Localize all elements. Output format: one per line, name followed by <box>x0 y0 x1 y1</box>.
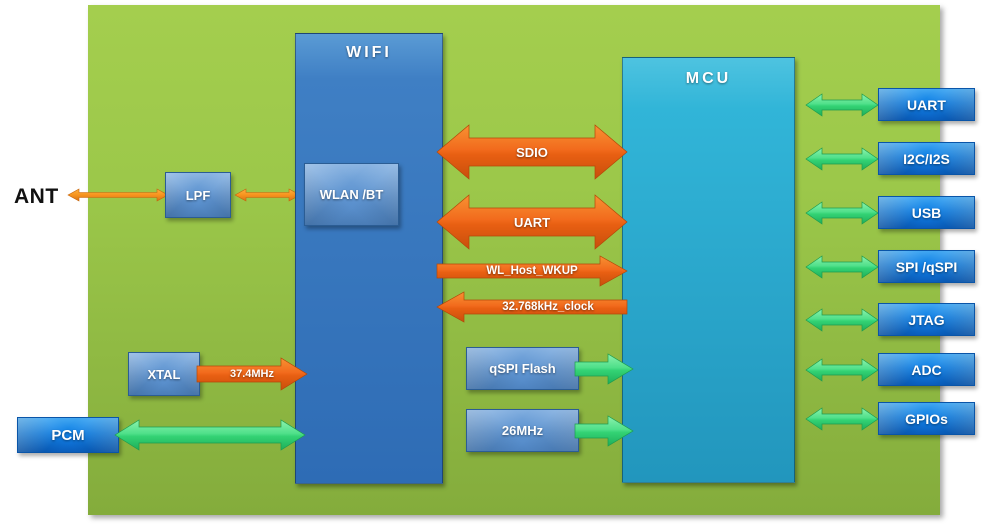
block-mcu: MCU <box>622 57 795 483</box>
diagram-canvas: ANT LPF WIFI WLAN /BT MCU <box>0 0 982 531</box>
block-peripheral-uart-label: UART <box>907 97 946 113</box>
xtal-37-4mhz-arrow: 37.4MHz <box>197 357 307 391</box>
block-lpf: LPF <box>165 172 231 218</box>
block-xtal-label: XTAL <box>148 367 181 382</box>
block-qspi-flash: qSPI Flash <box>466 347 579 390</box>
block-peripheral-gpios: GPIOs <box>878 402 975 435</box>
block-peripheral-spi-qspi: SPI /qSPI <box>878 250 975 283</box>
block-peripheral-jtag-label: JTAG <box>908 312 944 328</box>
block-peripheral-uart: UART <box>878 88 975 121</box>
block-wifi-label: WIFI <box>346 44 392 62</box>
interconnect-sdio-arrow: SDIO <box>437 123 627 181</box>
peripheral-i2c-i2s-arrow <box>806 146 878 172</box>
block-mcu-label: MCU <box>686 70 731 88</box>
block-peripheral-adc: ADC <box>878 353 975 386</box>
block-26mhz-label: 26MHz <box>502 423 543 438</box>
block-peripheral-spi-qspi-label: SPI /qSPI <box>896 259 957 275</box>
block-wifi: WIFI <box>295 33 443 484</box>
clock-26mhz-to-mcu-arrow <box>575 415 633 447</box>
ant-to-lpf-arrow <box>68 186 168 204</box>
block-peripheral-adc-label: ADC <box>911 362 941 378</box>
peripheral-gpios-arrow <box>806 406 878 432</box>
block-xtal: XTAL <box>128 352 200 396</box>
peripheral-jtag-arrow <box>806 307 878 333</box>
block-pcm: PCM <box>17 417 119 453</box>
block-peripheral-i2c-i2s-label: I2C/I2S <box>903 151 950 167</box>
block-pcm-label: PCM <box>51 427 84 444</box>
ant-label: ANT <box>14 185 59 209</box>
interconnect-32khz-clock-arrow: 32.768kHz_clock <box>437 291 627 323</box>
block-peripheral-usb: USB <box>878 196 975 229</box>
block-peripheral-i2c-i2s: I2C/I2S <box>878 142 975 175</box>
block-lpf-label: LPF <box>186 188 211 203</box>
block-26mhz: 26MHz <box>466 409 579 452</box>
block-wlan-bt-label: WLAN /BT <box>320 187 384 202</box>
pcm-to-wifi-arrow <box>115 417 305 453</box>
interconnect-wl-host-wkup-arrow: WL_Host_WKUP <box>437 255 627 287</box>
qspi-flash-to-mcu-arrow <box>575 353 633 385</box>
peripheral-usb-arrow <box>806 200 878 226</box>
peripheral-spi-qspi-arrow <box>806 254 878 280</box>
block-peripheral-gpios-label: GPIOs <box>905 411 948 427</box>
interconnect-uart-arrow: UART <box>437 193 627 251</box>
peripheral-uart-arrow <box>806 92 878 118</box>
block-peripheral-usb-label: USB <box>912 205 942 221</box>
block-qspi-flash-label: qSPI Flash <box>489 361 555 376</box>
block-wlan-bt: WLAN /BT <box>304 163 399 226</box>
peripheral-adc-arrow <box>806 357 878 383</box>
block-peripheral-jtag: JTAG <box>878 303 975 336</box>
lpf-to-wlan-arrow <box>235 186 300 204</box>
